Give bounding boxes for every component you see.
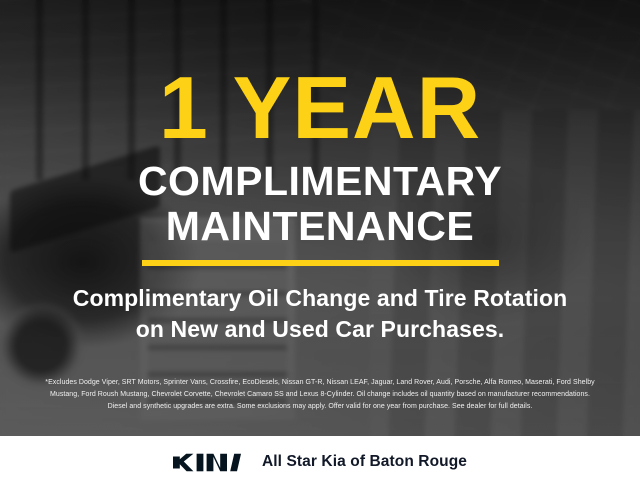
disclaimer-line-1: *Excludes Dodge Viper, SRT Motors, Sprin…: [12, 377, 628, 389]
disclaimer-text: *Excludes Dodge Viper, SRT Motors, Sprin…: [0, 377, 640, 412]
disclaimer-line-3: Diesel and synthetic upgrades are extra.…: [12, 401, 628, 413]
subheading-line-1: Complimentary Oil Change and Tire Rotati…: [73, 283, 568, 314]
subheading: Complimentary Oil Change and Tire Rotati…: [73, 283, 568, 344]
headline-maintenance: MAINTENANCE: [166, 206, 474, 247]
footer-branding: All Star Kia of Baton Rouge: [173, 452, 467, 473]
kia-logo: [173, 452, 241, 473]
hero-section: 1 YEAR COMPLIMENTARY MAINTENANCE Complim…: [0, 0, 640, 436]
footer-bar: All Star Kia of Baton Rouge: [0, 436, 640, 488]
hero-copy-stack: 1 YEAR COMPLIMENTARY MAINTENANCE Complim…: [0, 0, 640, 436]
headline-complimentary: COMPLIMENTARY: [138, 161, 502, 202]
promotional-banner: 1 YEAR COMPLIMENTARY MAINTENANCE Complim…: [0, 0, 640, 488]
disclaimer-line-2: Mustang, Ford Roush Mustang, Chevrolet C…: [12, 389, 628, 401]
subheading-line-2: on New and Used Car Purchases.: [73, 314, 568, 345]
yellow-divider-bar: [142, 260, 499, 266]
headline-year: 1 YEAR: [159, 68, 481, 149]
dealer-name: All Star Kia of Baton Rouge: [262, 453, 467, 471]
